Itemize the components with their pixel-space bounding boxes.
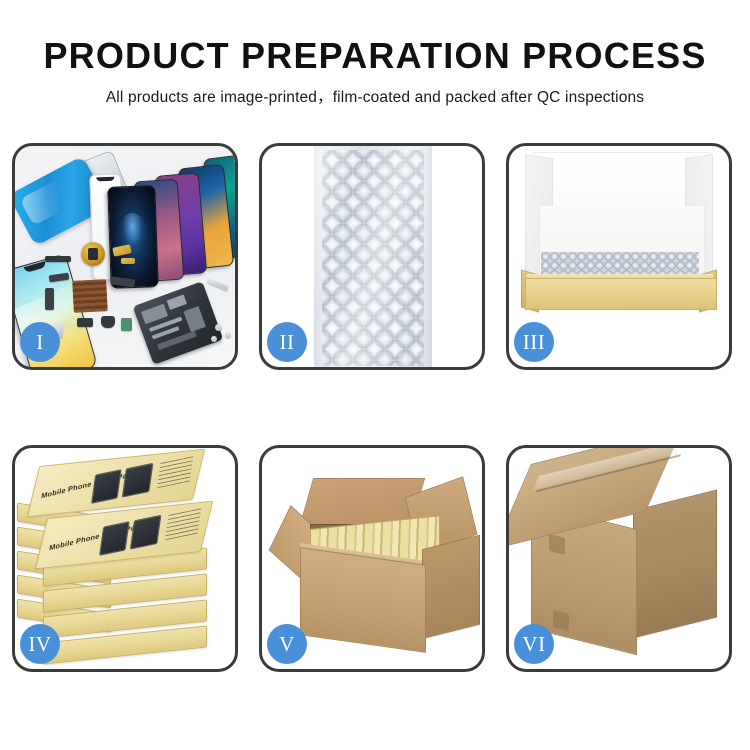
phone-lineup-icon xyxy=(101,154,235,274)
carton-side-panel xyxy=(633,490,717,639)
carton-side-panel xyxy=(422,535,480,639)
part-bracket-icon xyxy=(45,256,71,262)
step-panel-6: VI xyxy=(506,445,732,672)
part-board-icon xyxy=(121,318,132,331)
bubble-pattern-offset xyxy=(322,150,424,366)
step-panel-4: Mobile Phone Spare Parts Mobile Phone Sp… xyxy=(12,445,238,672)
box-front-panel xyxy=(525,278,717,310)
part-connector-icon xyxy=(77,318,93,327)
screw-icon xyxy=(211,336,217,342)
process-steps-grid: I II III xyxy=(12,143,738,672)
screw-icon xyxy=(225,332,231,338)
chip-grid-icon xyxy=(72,279,108,313)
step-panel-2: II xyxy=(259,143,485,370)
carton-front-panel xyxy=(300,547,426,653)
carton-tab xyxy=(549,534,565,555)
screw-icon xyxy=(215,324,222,331)
step-badge-2: II xyxy=(267,322,307,362)
step-badge-6: VI xyxy=(514,624,554,664)
speaker-coil-icon xyxy=(81,242,105,266)
step-panel-3: III xyxy=(506,143,732,370)
bubble-wrap-pouch-icon xyxy=(314,146,432,367)
open-carton-icon xyxy=(276,472,476,652)
sealed-carton-icon xyxy=(531,464,717,656)
page-subtitle: All products are image-printed，film-coat… xyxy=(0,85,750,107)
step-badge-1: I xyxy=(20,322,60,362)
page-header: PRODUCT PREPARATION PROCESS All products… xyxy=(0,0,750,107)
step-badge-5: V xyxy=(267,624,307,664)
step-badge-3: III xyxy=(514,322,554,362)
part-gold-strip-icon xyxy=(121,258,135,264)
step-panel-1: I xyxy=(12,143,238,370)
step-badge-4: IV xyxy=(20,624,60,664)
page-title: PRODUCT PREPARATION PROCESS xyxy=(0,36,750,76)
flex-cable-vertical-icon xyxy=(45,288,54,310)
part-camera-icon xyxy=(101,316,115,328)
step-panel-5: V xyxy=(259,445,485,672)
carton-tab xyxy=(553,610,569,631)
